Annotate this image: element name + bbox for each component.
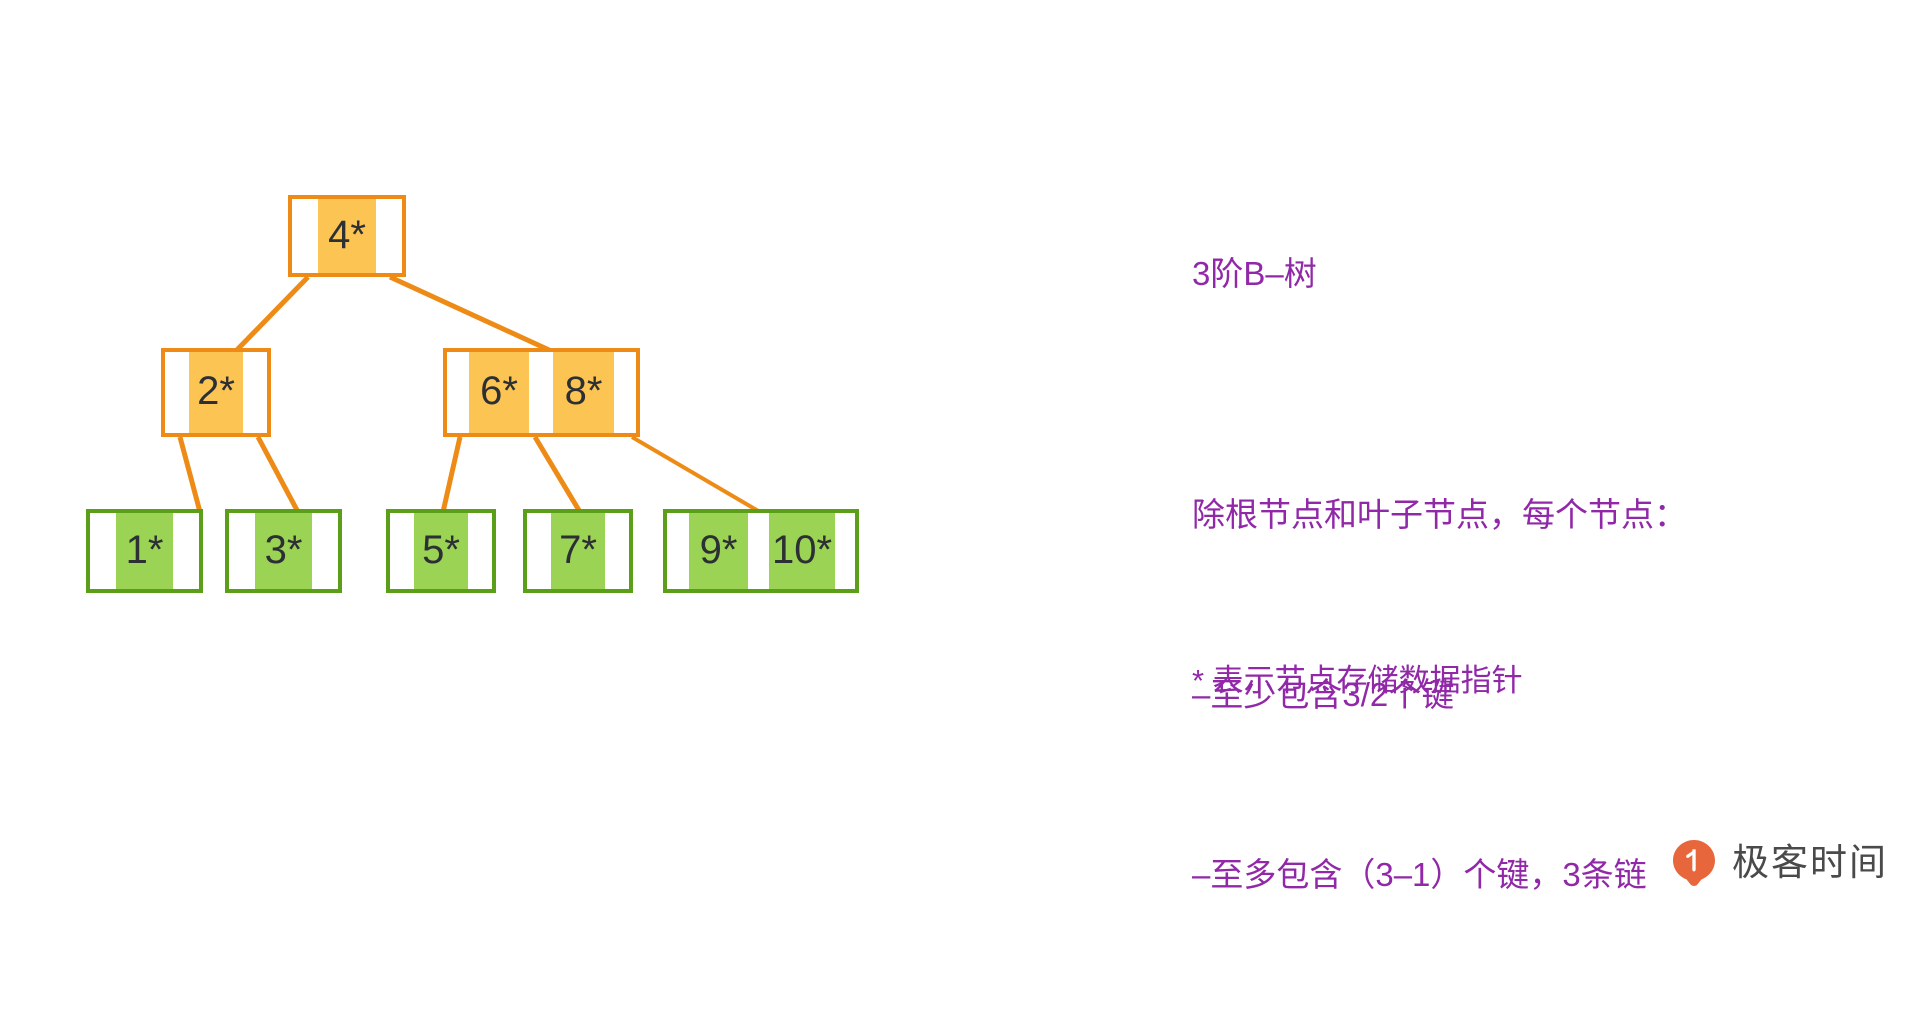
edge-2-to-3: [258, 437, 298, 512]
btree-node-leaf-1: 1*: [86, 509, 203, 593]
node-pointer-slot: [527, 513, 551, 589]
diagram-canvas: 4* 2* 6* 8* 1* 3* 5* 7* 9* 10: [0, 0, 1920, 961]
annotation-body-line-1: 除根节点和叶子节点，每个节点：: [1192, 485, 1687, 545]
node-pointer-slot: [165, 352, 189, 433]
edge-root-to-68: [390, 277, 560, 355]
btree-node-leaf-910: 9* 10*: [663, 509, 859, 593]
node-pointer-slot: [243, 352, 267, 433]
node-key: 6*: [469, 352, 529, 433]
node-key: 5*: [414, 513, 468, 589]
btree-node-root: 4*: [288, 195, 406, 277]
annotation-footnote: * 表示节点存储数据指针: [1192, 655, 1523, 700]
annotation-title: 3阶B–树: [1192, 247, 1317, 295]
node-pointer-slot: [614, 352, 636, 433]
edge-68-to-7: [535, 437, 580, 512]
node-pointer-slot: [90, 513, 116, 589]
node-pointer-slot: [605, 513, 629, 589]
node-key: 8*: [553, 352, 614, 433]
node-pointer-slot: [468, 513, 492, 589]
btree-node-internal-68: 6* 8*: [443, 348, 640, 437]
node-key: 7*: [551, 513, 605, 589]
annotation-body-line-3: –至多包含（3–1）个键，3条链: [1192, 845, 1687, 905]
btree-node-leaf-5: 5*: [386, 509, 496, 593]
node-pointer-slot: [748, 513, 769, 589]
node-pointer-slot: [835, 513, 855, 589]
edge-root-to-2: [232, 277, 308, 355]
geekbang-logo-text: 极客时间: [1732, 844, 1888, 881]
edge-68-to-910: [632, 437, 760, 512]
btree-node-leaf-3: 3*: [225, 509, 342, 593]
node-pointer-slot: [390, 513, 414, 589]
node-key: 9*: [689, 513, 748, 589]
node-key: 10*: [769, 513, 835, 589]
node-pointer-slot: [667, 513, 689, 589]
node-pointer-slot: [173, 513, 199, 589]
edge-68-to-5: [443, 437, 460, 512]
edge-2-to-1: [180, 437, 200, 512]
geekbang-logo: 极客时间: [1670, 838, 1888, 886]
node-key: 3*: [255, 513, 312, 589]
node-pointer-slot: [376, 199, 402, 273]
node-pointer-slot: [292, 199, 318, 273]
node-pointer-slot: [529, 352, 553, 433]
node-pointer-slot: [447, 352, 469, 433]
node-key: 4*: [318, 199, 376, 273]
geekbang-q-mark: [1670, 838, 1718, 886]
btree-node-internal-2: 2*: [161, 348, 271, 437]
node-key: 1*: [116, 513, 173, 589]
node-pointer-slot: [312, 513, 338, 589]
node-key: 2*: [189, 352, 243, 433]
btree-node-leaf-7: 7*: [523, 509, 633, 593]
node-pointer-slot: [229, 513, 255, 589]
